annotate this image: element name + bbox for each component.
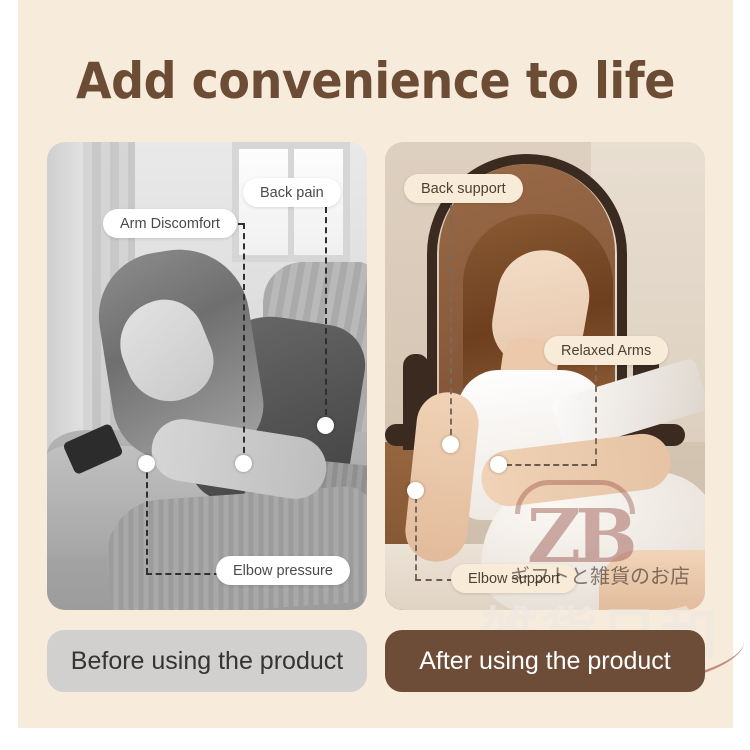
callout-back-support: Back support (404, 174, 523, 203)
marker-relaxed-arms (490, 456, 507, 473)
callout-relaxed-arms: Relaxed Arms (544, 336, 668, 365)
after-photo (385, 142, 705, 610)
connector-relaxed-arms-v (595, 365, 597, 465)
marker-arm-discomfort (235, 455, 252, 472)
connector-elbow-pressure-h (146, 573, 220, 575)
callout-arm-discomfort: Arm Discomfort (103, 209, 237, 238)
poster-root: Add convenience to life Arm Discomfort B… (0, 0, 750, 750)
callout-back-pain: Back pain (243, 178, 341, 207)
caption-after-using-product: After using the product (385, 630, 705, 692)
person-leg (599, 550, 705, 610)
connector-elbow-support-v (415, 497, 417, 580)
callout-elbow-pressure: Elbow pressure (216, 556, 350, 585)
connector-back-support-v (450, 205, 452, 445)
connector-elbow-pressure-v (146, 463, 148, 574)
person-jeans (103, 485, 367, 610)
connector-relaxed-arms-h (506, 464, 597, 466)
after-panel (385, 142, 705, 610)
callout-elbow-support: Elbow support (451, 564, 577, 593)
marker-elbow-pressure (138, 455, 155, 472)
marker-back-pain (317, 417, 334, 434)
marker-back-support (442, 436, 459, 453)
caption-before-using-product: Before using the product (47, 630, 367, 692)
connector-arm-discomfort-v (243, 223, 245, 463)
connector-back-pain-v (325, 207, 327, 425)
connector-elbow-support-h (415, 579, 453, 581)
marker-elbow-support (407, 482, 424, 499)
page-title: Add convenience to life (47, 52, 705, 110)
